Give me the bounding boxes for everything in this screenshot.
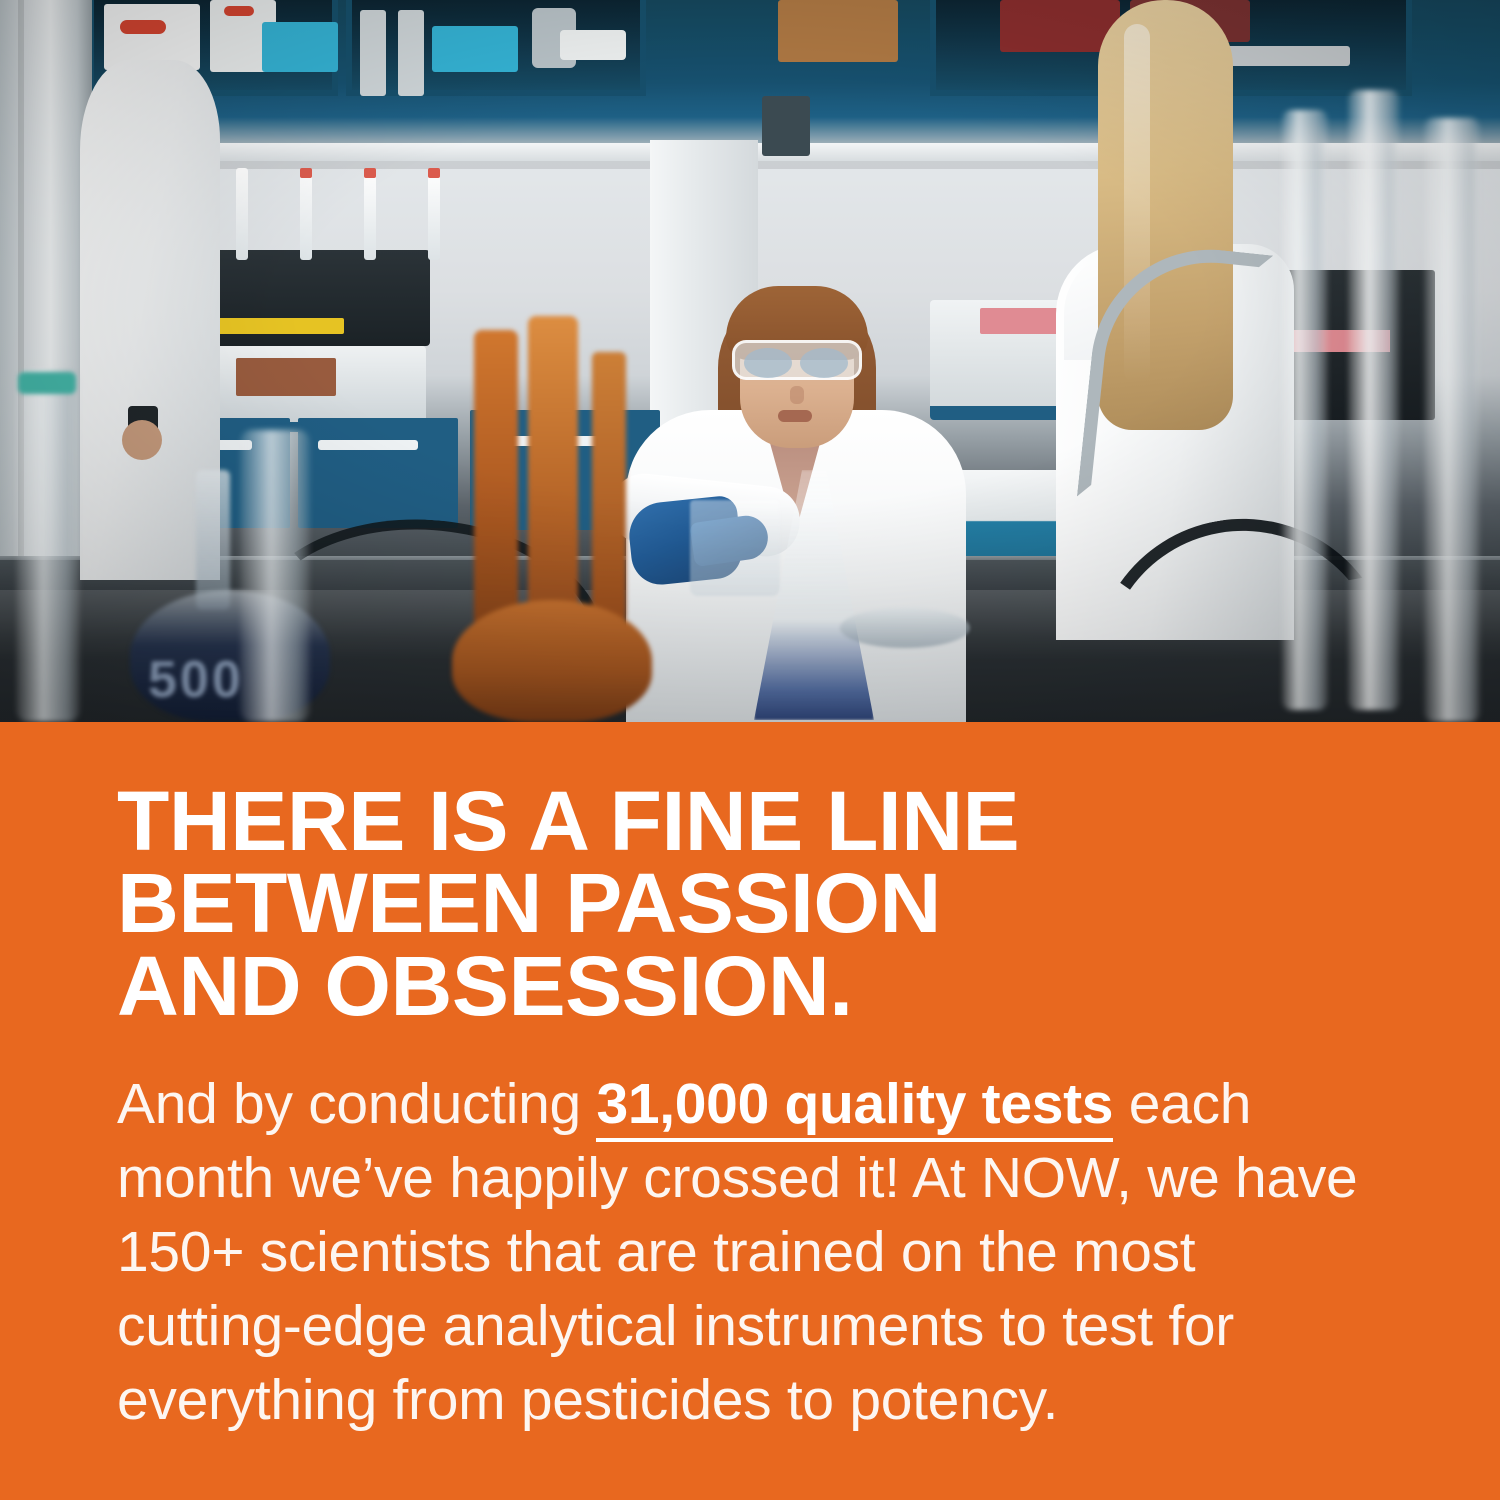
body-text-before: And by conducting: [117, 1072, 596, 1136]
headline-line-3: AND OBSESSION.: [117, 945, 1415, 1027]
instrument-display: [236, 358, 336, 396]
goggle-lens-left: [744, 348, 792, 378]
cabinet-blue-bottle: [262, 22, 338, 72]
glass-cylinder: [240, 430, 310, 722]
glass-cylinder: [1348, 90, 1400, 710]
volumetric-flask-neck: [196, 470, 230, 610]
mouth: [778, 410, 812, 422]
amber-flask-neck: [474, 330, 518, 630]
glass-cylinder: [1282, 110, 1328, 710]
marketing-banner: 500 THERE IS A FINE LINE BETWEEN PASSION…: [0, 0, 1500, 1500]
cabinet-tray: [560, 30, 626, 60]
headline-line-2: BETWEEN PASSION: [117, 862, 1415, 944]
petri-dish: [840, 608, 970, 648]
glass-cylinder: [1424, 118, 1480, 722]
cabinet-cylinder: [398, 10, 424, 96]
blue-base-cabinet: [298, 418, 458, 528]
test-tube: [428, 168, 440, 260]
amber-flask-neck: [528, 316, 578, 646]
cylinder-cap: [18, 372, 76, 394]
body-paragraph: And by conducting 31,000 quality tests e…: [117, 1067, 1367, 1437]
nose: [790, 386, 804, 404]
cabinet-blue-bottle: [432, 26, 518, 72]
test-tube: [300, 168, 312, 260]
cabinet-handle: [318, 440, 418, 450]
laboratory-photo: 500: [0, 0, 1500, 722]
headline-line-1: THERE IS A FINE LINE: [117, 780, 1415, 862]
instrument-yellow-strip: [214, 318, 344, 334]
orange-copy-panel: THERE IS A FINE LINE BETWEEN PASSION AND…: [0, 722, 1500, 1500]
glass-cylinder: [16, 370, 80, 722]
wall-plate: [762, 96, 810, 156]
cabinet-cylinder: [360, 10, 386, 96]
hand: [122, 420, 162, 460]
quality-tests-highlight: 31,000 quality tests: [596, 1072, 1113, 1142]
small-beaker: [690, 500, 780, 596]
cabinet-cardboard-box: [778, 0, 898, 62]
page-title: THERE IS A FINE LINE BETWEEN PASSION AND…: [117, 780, 1415, 1027]
amber-flask-body: [452, 600, 652, 722]
amber-flask-neck: [592, 352, 626, 622]
test-tube-cap: [300, 168, 312, 178]
cabinet-box-label: [120, 20, 166, 34]
cabinet-box-label: [224, 6, 254, 16]
test-tube-cap: [364, 168, 376, 178]
test-tube-cap: [428, 168, 440, 178]
test-tube: [364, 168, 376, 260]
goggle-lens-right: [800, 348, 848, 378]
test-tube: [236, 168, 248, 260]
